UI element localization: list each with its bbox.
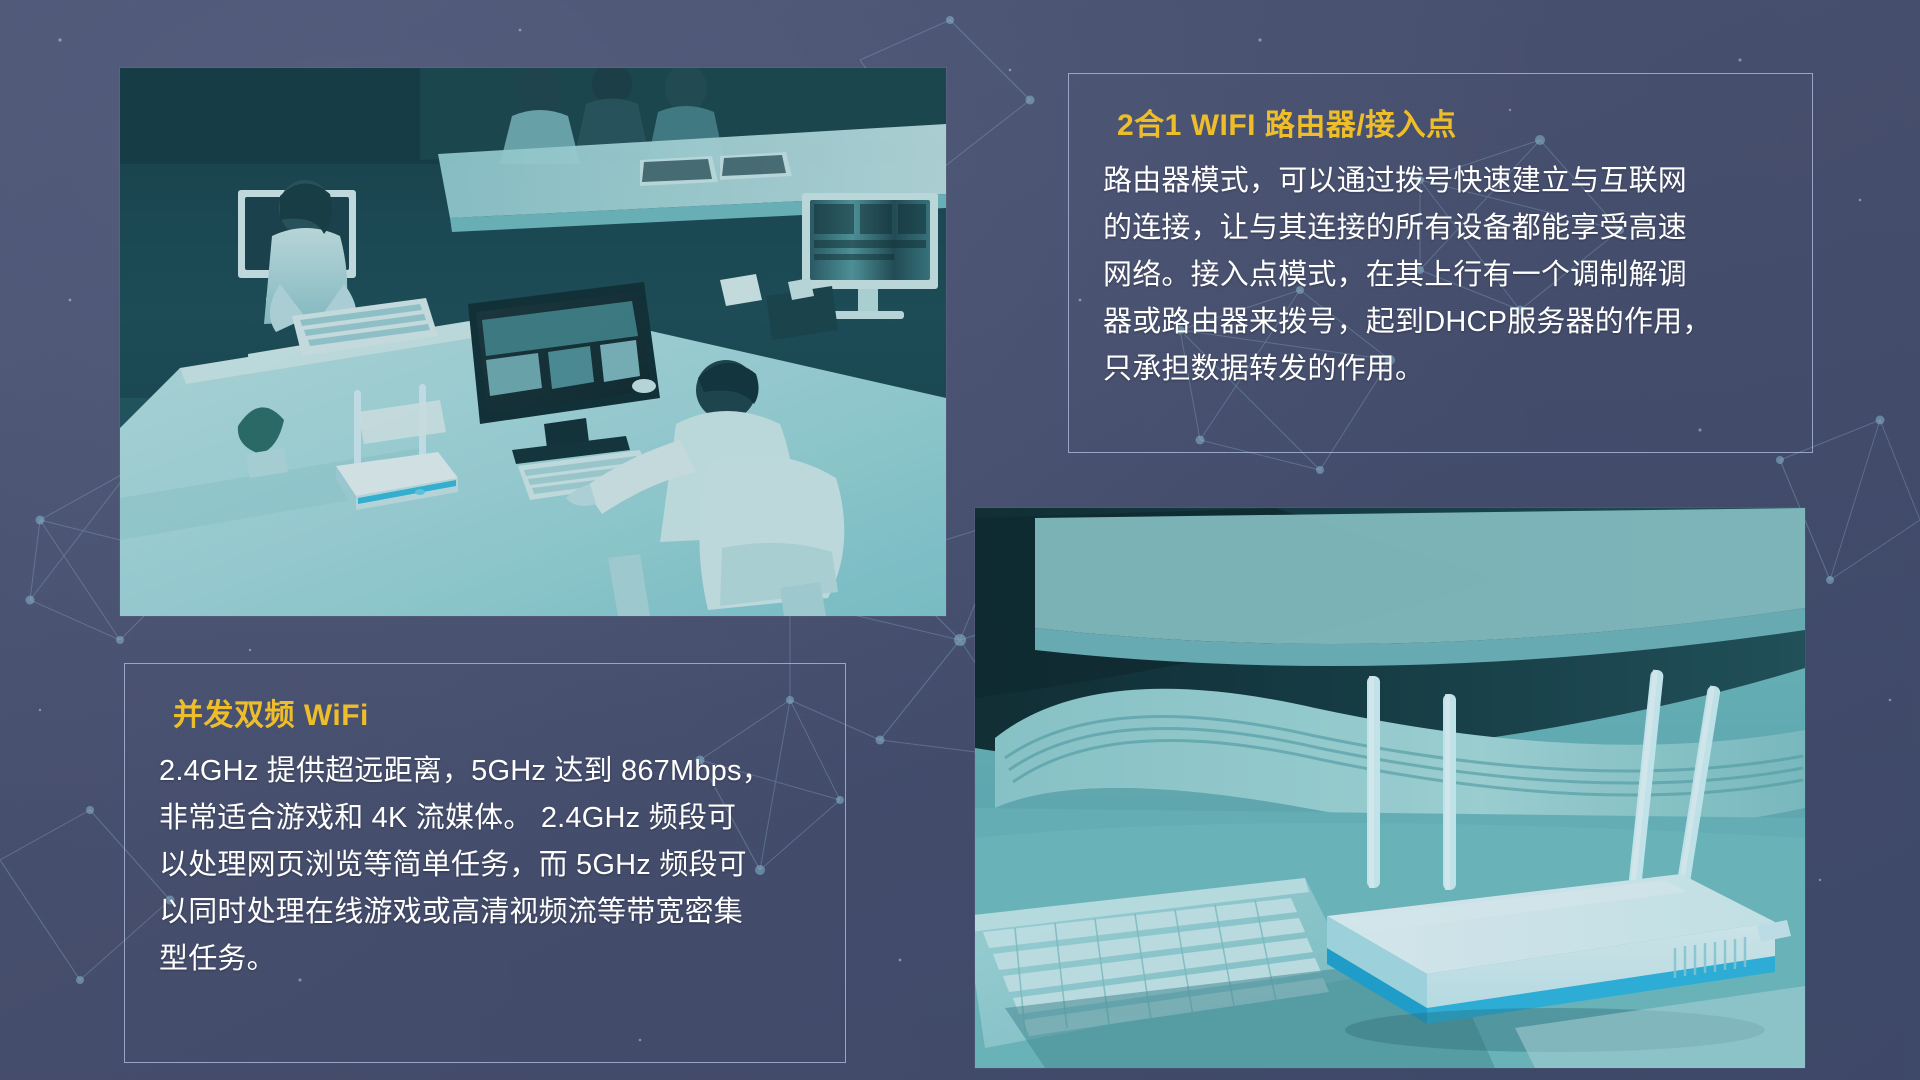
card-line: 以处理网页浏览等简单任务，而 5GHz 频段可 [159,842,811,889]
dual-band-card-title: 并发双频 WiFi [173,690,811,734]
dual-band-card-body: 2.4GHz 提供超远距离，5GHz 达到 867Mbps， 非常适合游戏和 4… [159,748,811,983]
router-closeup-photo [975,508,1805,1068]
card-line: 以同时处理在线游戏或高清视频流等带宽密集 [159,889,811,936]
router-ap-card: 2合1 WIFI 路由器/接入点 路由器模式，可以通过拨号快速建立与互联网 的连… [1068,73,1813,453]
card-line: 器或路由器来拨号，起到DHCP服务器的作用， [1103,299,1778,346]
card-line: 网络。接入点模式，在其上行有一个调制解调 [1103,252,1778,299]
office-workspace-photo [120,68,946,616]
card-line: 型任务。 [159,936,811,983]
card-line: 路由器模式，可以通过拨号快速建立与互联网 [1103,158,1778,205]
dual-band-card: 并发双频 WiFi 2.4GHz 提供超远距离，5GHz 达到 867Mbps，… [124,663,846,1063]
card-line: 的连接，让与其连接的所有设备都能享受高速 [1103,205,1778,252]
router-ap-card-title: 2合1 WIFI 路由器/接入点 [1117,100,1778,144]
router-ap-card-body: 路由器模式，可以通过拨号快速建立与互联网 的连接，让与其连接的所有设备都能享受高… [1103,158,1778,393]
slide-canvas: 2合1 WIFI 路由器/接入点 路由器模式，可以通过拨号快速建立与互联网 的连… [0,0,1920,1080]
card-line: 只承担数据转发的作用。 [1103,346,1778,393]
card-line: 2.4GHz 提供超远距离，5GHz 达到 867Mbps， [159,748,811,795]
card-line: 非常适合游戏和 4K 流媒体。 2.4GHz 频段可 [159,795,811,842]
